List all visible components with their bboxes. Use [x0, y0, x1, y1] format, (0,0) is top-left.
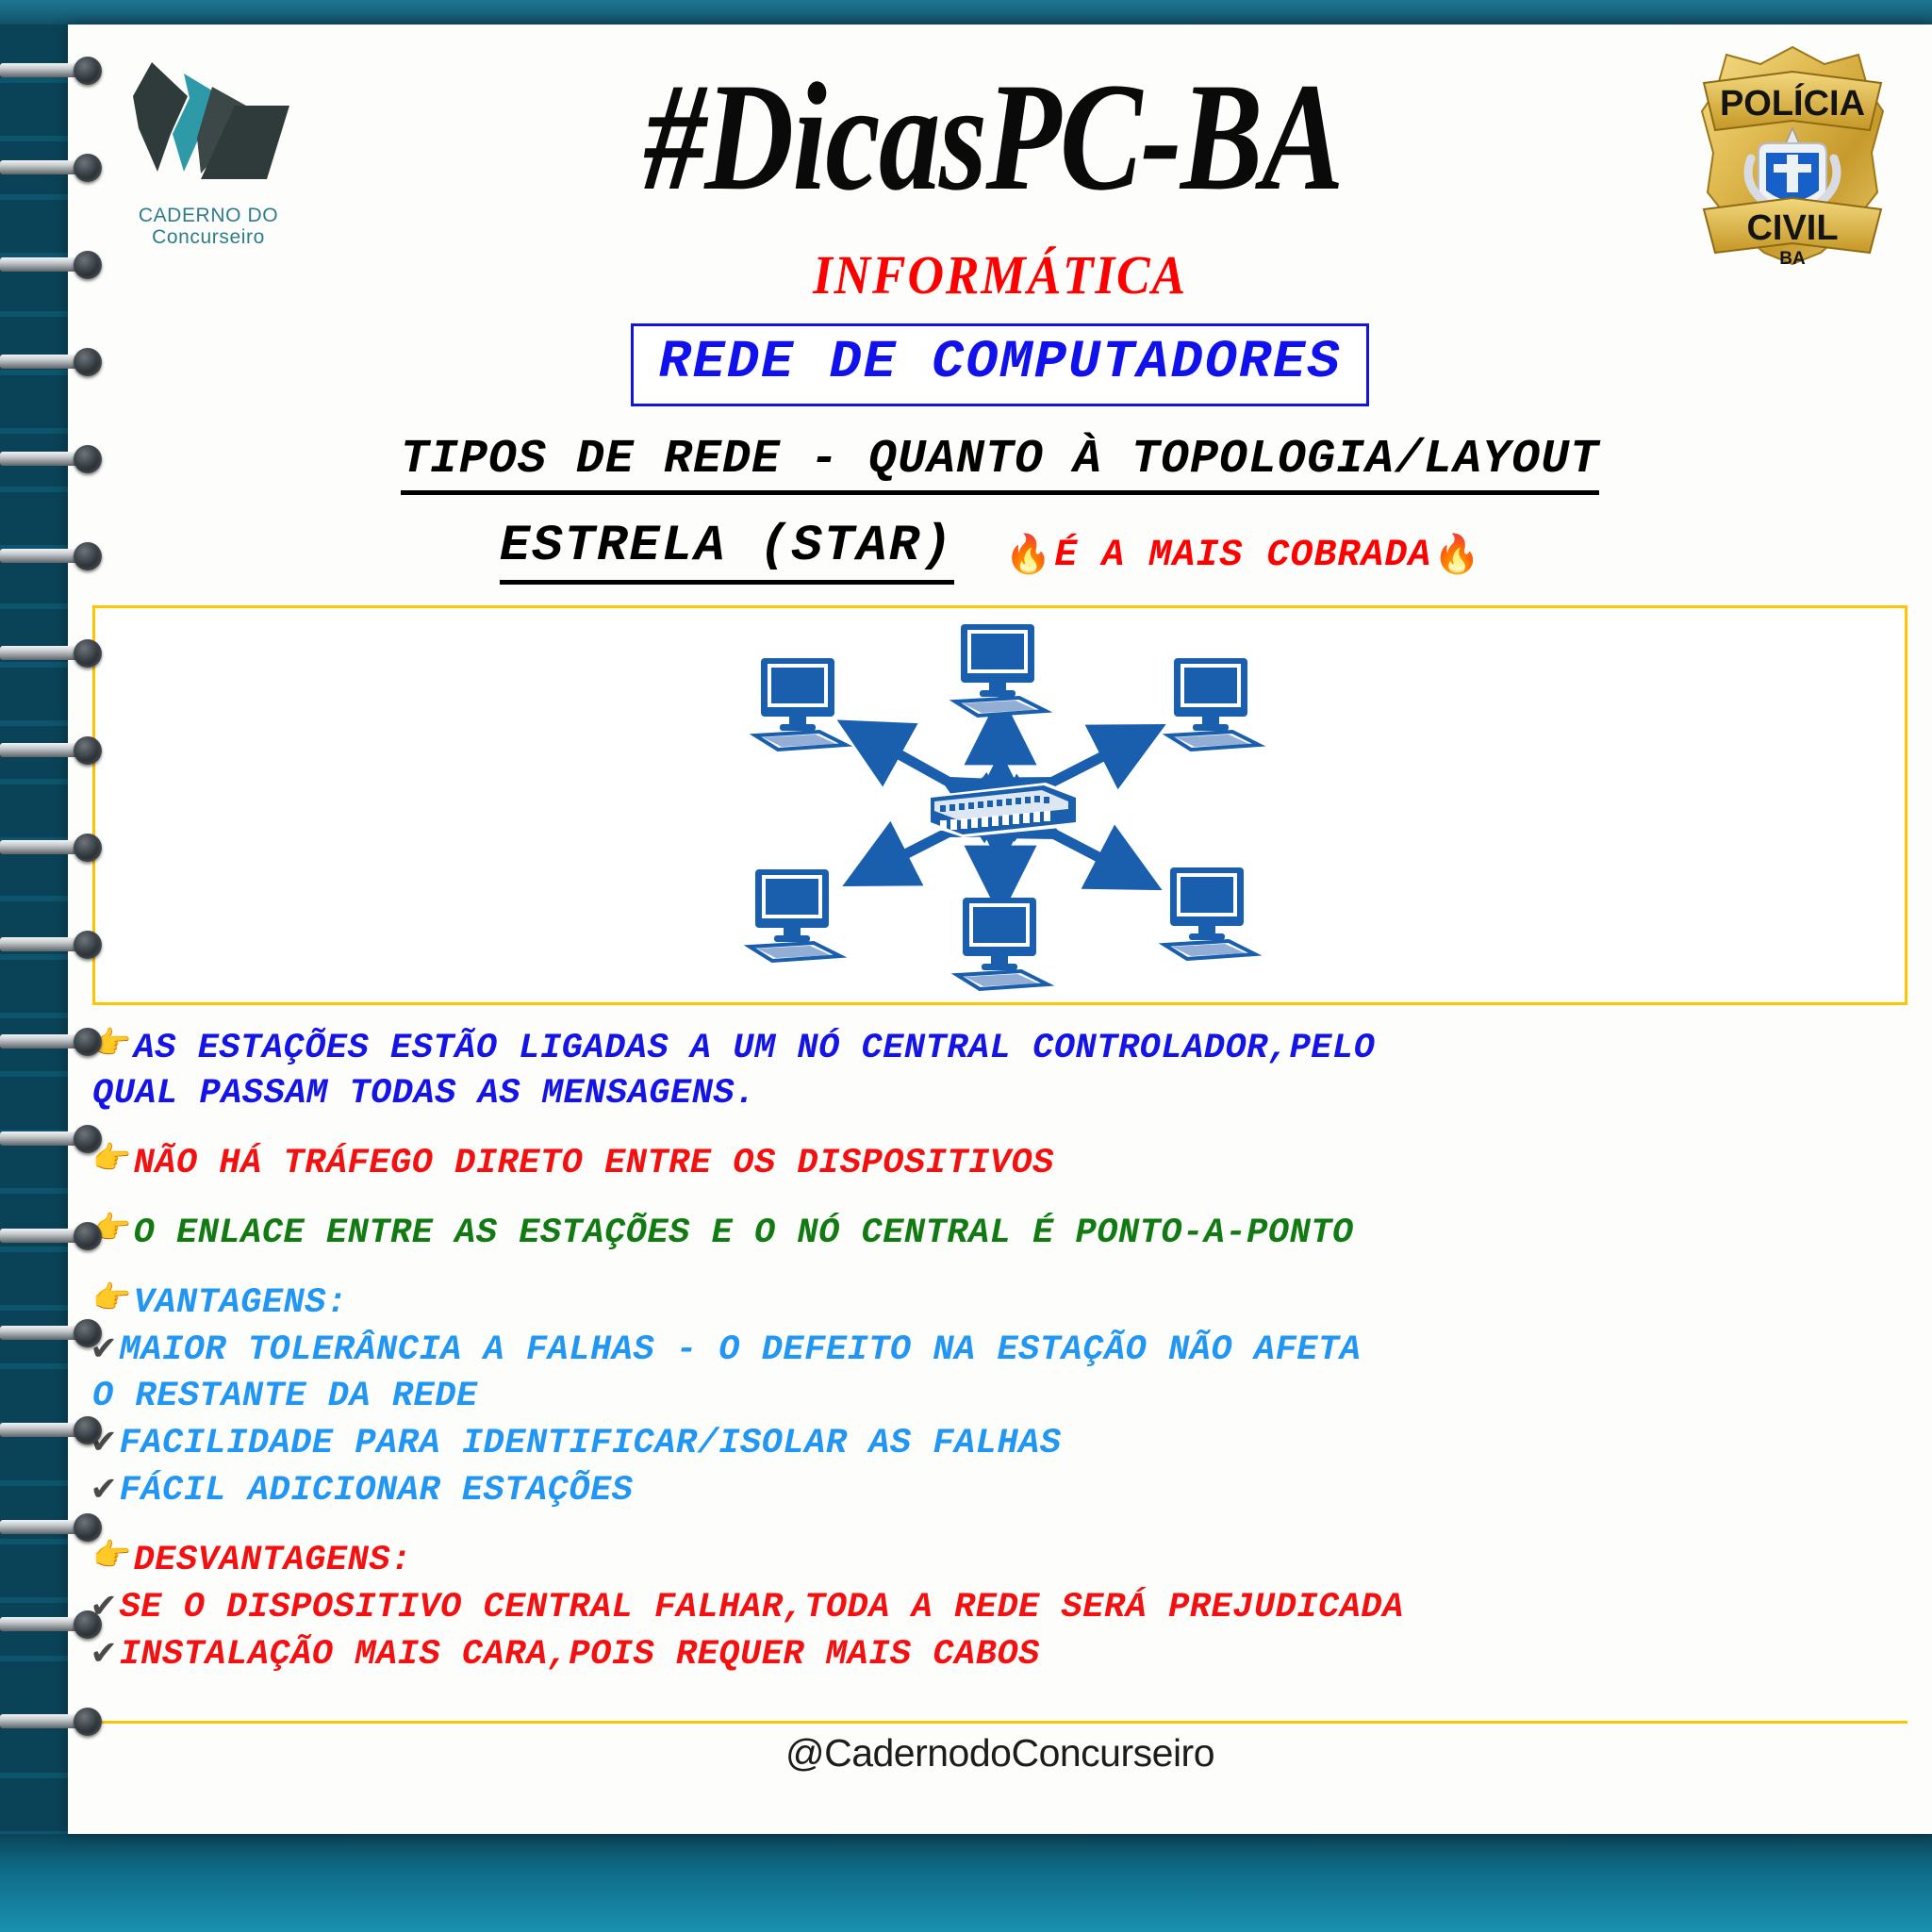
check-icon: ✔ — [92, 1632, 116, 1676]
book-logo-icon — [109, 47, 307, 202]
link-top-right — [1048, 732, 1151, 784]
ring-hole — [74, 251, 102, 279]
page-sheet: CADERNO DO Concurseiro #DicasPC-BA — [68, 25, 1932, 1834]
advantage-text: MAIOR TOLERÂNCIA A FALHAS - O DEFEITO NA… — [120, 1328, 1907, 1373]
spiral-ring — [0, 639, 111, 668]
most-asked-label: É A MAIS COBRADA — [1054, 535, 1431, 577]
bullet-text: NÃO HÁ TRÁFEGO DIRETO ENTRE OS DISPOSITI… — [134, 1141, 1907, 1186]
badge-top-text: POLÍCIA — [1720, 82, 1865, 124]
workstation-bottom-left — [750, 869, 840, 961]
background-bottom-band — [0, 1834, 1932, 1932]
star-topology-diagram-frame — [92, 605, 1907, 1005]
badge-bottom-text: CIVIL — [1746, 208, 1838, 248]
logo-caption: CADERNO DO Concurseiro — [109, 206, 307, 248]
network-kind-heading: TIPOS DE REDE - QUANTO À TOPOLOGIA/LAYOU… — [401, 433, 1599, 495]
ring-hole — [74, 542, 102, 570]
spiral-ring — [0, 348, 111, 376]
link-bottom-right — [1049, 832, 1148, 883]
link-bottom-left — [857, 830, 953, 879]
ring-hole — [74, 1513, 102, 1542]
subject-title: INFORMÁTICA — [142, 243, 1858, 306]
open-book-icon — [114, 47, 303, 202]
policia-civil-badge: POLÍCIA CIVIL BA — [1679, 38, 1906, 270]
spiral-ring — [0, 1416, 111, 1445]
ring-hole — [74, 1708, 102, 1736]
pointer-icon: 👉 — [92, 1538, 132, 1577]
topology-row: ESTRELA (STAR) 🔥 É A MAIS COBRADA 🔥 — [68, 518, 1932, 585]
advantage-text: FÁCIL ADICIONAR ESTAÇÕES — [120, 1468, 1907, 1513]
ring-hole — [74, 1222, 102, 1250]
bullet-no-direct-traffic: 👉 NÃO HÁ TRÁFEGO DIRETO ENTRE OS DISPOSI… — [92, 1141, 1907, 1186]
police-badge-icon: POLÍCIA CIVIL BA — [1683, 43, 1902, 270]
advantage-item: ✔ FÁCIL ADICIONAR ESTAÇÕES — [92, 1468, 1907, 1513]
central-switch-icon — [929, 783, 1080, 837]
most-asked-badge: 🔥 É A MAIS COBRADA 🔥 — [1005, 532, 1482, 579]
bullet-continuation: QUAL PASSAM TODAS AS MENSAGENS. — [92, 1071, 1907, 1116]
title-stack: INFORMÁTICA REDE DE COMPUTADORES TIPOS D… — [68, 243, 1932, 585]
link-top-left — [851, 728, 953, 784]
spiral-ring — [0, 1028, 111, 1056]
workstation-bottom-center — [957, 898, 1048, 989]
workstation-top-center — [955, 624, 1046, 716]
disadvantage-item: ✔ SE O DISPOSITIVO CENTRAL FALHAR,TODA A… — [92, 1585, 1907, 1630]
workstation-bottom-right — [1164, 867, 1255, 959]
workstation-top-right — [1168, 658, 1259, 750]
background-top-band — [0, 0, 1932, 25]
ring-hole — [74, 736, 102, 765]
ring-hole — [74, 1416, 102, 1445]
ring-hole — [74, 445, 102, 473]
star-topology-diagram — [642, 617, 1359, 994]
ring-hole — [74, 154, 102, 182]
bullet-central-node: 👉 AS ESTAÇÕES ESTÃO LIGADAS A UM NÓ CENT… — [92, 1026, 1907, 1116]
spiral-ring — [0, 736, 111, 765]
spiral-ring — [0, 542, 111, 570]
advantage-item: ✔ MAIOR TOLERÂNCIA A FALHAS - O DEFEITO … — [92, 1328, 1907, 1373]
disadvantage-item: ✔ INSTALAÇÃO MAIS CARA,POIS REQUER MAIS … — [92, 1632, 1907, 1677]
ring-hole — [74, 1125, 102, 1153]
spiral-ring — [0, 445, 111, 473]
content-body: 👉 AS ESTAÇÕES ESTÃO LIGADAS A UM NÓ CENT… — [68, 1005, 1932, 1677]
topic-box-label: REDE DE COMPUTADORES — [658, 333, 1341, 393]
flame-icon-left: 🔥 — [1005, 532, 1053, 579]
spiral-ring — [0, 57, 111, 85]
spiral-ring — [0, 154, 111, 182]
spiral-ring — [0, 834, 111, 862]
ring-hole — [74, 1610, 102, 1639]
ring-hole — [74, 834, 102, 862]
bullet-text: O ENLACE ENTRE AS ESTAÇÕES E O NÓ CENTRA… — [134, 1211, 1907, 1256]
bullet-point-to-point: 👉 O ENLACE ENTRE AS ESTAÇÕES E O NÓ CENT… — [92, 1211, 1907, 1256]
pointer-icon: 👉 — [92, 1280, 132, 1319]
spiral-ring — [0, 251, 111, 279]
ring-hole — [74, 639, 102, 668]
ring-hole — [74, 57, 102, 85]
bullet-text: AS ESTAÇÕES ESTÃO LIGADAS A UM NÓ CENTRA… — [134, 1026, 1907, 1071]
ring-hole — [74, 931, 102, 959]
spiral-ring — [0, 1222, 111, 1250]
flame-icon-right: 🔥 — [1433, 532, 1481, 579]
ring-hole — [74, 1319, 102, 1347]
ring-hole — [74, 1028, 102, 1056]
disadvantages-section: 👉 DESVANTAGENS: ✔ SE O DISPOSITIVO CENTR… — [92, 1538, 1907, 1677]
topic-box-wrapper: REDE DE COMPUTADORES — [68, 323, 1932, 406]
disadvantage-text: SE O DISPOSITIVO CENTRAL FALHAR,TODA A R… — [120, 1585, 1907, 1630]
topology-name-heading: ESTRELA (STAR) — [500, 518, 954, 585]
advantages-heading: VANTAGENS: — [134, 1280, 1907, 1326]
disadvantages-heading: DESVANTAGENS: — [134, 1538, 1907, 1583]
spiral-ring — [0, 1610, 111, 1639]
notebook-spine — [0, 25, 68, 1834]
advantage-item: ✔ FACILIDADE PARA IDENTIFICAR/ISOLAR AS … — [92, 1421, 1907, 1466]
disadvantage-text: INSTALAÇÃO MAIS CARA,POIS REQUER MAIS CA… — [120, 1632, 1907, 1677]
caderno-do-concurseiro-logo: CADERNO DO Concurseiro — [109, 38, 307, 248]
footer-handle: @CadernodoConcurseiro — [785, 1731, 1214, 1775]
footer: @CadernodoConcurseiro — [92, 1721, 1907, 1775]
check-icon: ✔ — [92, 1468, 116, 1512]
ring-hole — [74, 348, 102, 376]
spiral-ring — [0, 1125, 111, 1153]
advantage-continuation: O RESTANTE DA REDE — [92, 1374, 1907, 1419]
spiral-ring — [0, 1708, 111, 1736]
header: CADERNO DO Concurseiro #DicasPC-BA — [68, 25, 1932, 264]
network-kind-wrapper: TIPOS DE REDE - QUANTO À TOPOLOGIA/LAYOU… — [68, 406, 1932, 495]
spiral-ring — [0, 1513, 111, 1542]
spiral-ring — [0, 931, 111, 959]
advantages-section: 👉 VANTAGENS: ✔ MAIOR TOLERÂNCIA A FALHAS… — [92, 1280, 1907, 1512]
advantage-text: FACILIDADE PARA IDENTIFICAR/ISOLAR AS FA… — [120, 1421, 1907, 1466]
wordmark-title: #DicasPC-BA — [445, 38, 1543, 215]
topic-box: REDE DE COMPUTADORES — [631, 323, 1368, 406]
logo-caption-line1: CADERNO DO — [109, 206, 307, 227]
spiral-ring — [0, 1319, 111, 1347]
workstation-top-left — [755, 658, 846, 750]
